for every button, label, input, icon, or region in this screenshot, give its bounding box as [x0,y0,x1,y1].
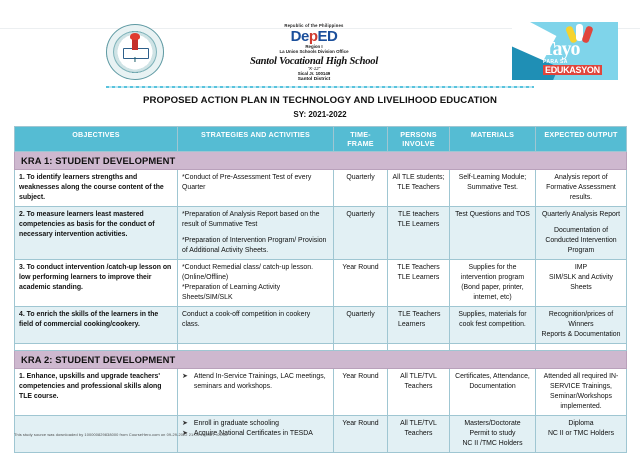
cell-persons: All TLE/TVL Teachers [388,369,450,416]
tayo-wordmark: Tayo [542,38,580,61]
kra-band-row: KRA 1: STUDENT DEVELOPMENT [15,152,627,170]
cell-timeframe: Quarterly [334,170,388,207]
tayo-subtitle-2: EDUKASYON [543,65,602,75]
cell-objective: 1. Enhance, upskills and upgrade teacher… [15,369,178,416]
cell-persons: All TLE students; TLE Teachers [388,170,450,207]
cell-materials: Certificates, Attendance, Documentation [450,369,536,416]
cell-objective: 1. To identify learners strengths and we… [15,170,178,207]
cell-strategy: ➤ Attend In-Service Trainings, LAC meeti… [178,369,334,416]
cell-output: IMP SIM/SLK and Activity Sheets [536,260,627,307]
strategy-line-2: *Preparation of Intervention Program/ Pr… [182,237,326,254]
col-objectives: OBJECTIVES [15,127,178,152]
bullet-text: Enroll in graduate schooling [194,419,329,429]
table-row: 1. Enhance, upskills and upgrade teacher… [15,369,627,416]
col-timeframe: TIME-FRAME [334,127,388,152]
download-watermark: This study source was downloaded by 1000… [14,432,228,437]
strategy-line-1: *Conduct Remedial class/ catch-up lesson… [182,264,313,281]
cell-persons: TLE teachers TLE Learners [388,207,450,260]
col-expected-output: EXPECTED OUTPUT [536,127,627,152]
table-row: 4. To enrich the skills of the learners … [15,307,627,344]
output-line-1: Quarterly Analysis Report [542,211,620,218]
bullet-text: Attend In-Service Trainings, LAC meeting… [194,372,329,392]
cell-persons: All TLE/TVL Teachers [388,416,450,453]
school-seal-icon: I [106,24,164,80]
cell-output: Diploma NC II or TMC Holders [536,416,627,453]
table-row: 3. To conduct intervention /catch-up les… [15,260,627,307]
cell-materials: Test Questions and TOS [450,207,536,260]
cell-timeframe: Quarterly [334,207,388,260]
bullet-arrow-icon: ➤ [182,372,188,382]
address-line-2: Santol District [250,77,378,82]
col-strategies: STRATEGIES AND ACTIVITIES [178,127,334,152]
cell-materials: Self-Learning Module; Summative Test. [450,170,536,207]
col-materials: MATERIALS [450,127,536,152]
cell-timeframe: Year Round [334,260,388,307]
table-row: 1. To identify learners strengths and we… [15,170,627,207]
kra2-label: KRA 2: STUDENT DEVELOPMENT [15,351,627,369]
cell-strategy: *Conduct of Pre-Assessment Test of every… [178,170,334,207]
division-line: La Union Schools Division Office [250,50,378,55]
tayo-para-sa-edukasyon-logo: Tayo PARA SA EDUKASYON [512,22,618,80]
kra-band-row: KRA 2: STUDENT DEVELOPMENT [15,351,627,369]
table-spacer-row [15,344,627,351]
col-persons-involve: PERSONSINVOLVE [388,127,450,152]
letterhead-divider [106,86,534,88]
cell-output: Quarterly Analysis Report Documentation … [536,207,627,260]
cell-materials: Supplies, materials for cook fest compet… [450,307,536,344]
strategy-line-2: *Preparation of Learning Activity Sheets… [182,284,280,301]
deped-wordmark: DepED [250,29,378,45]
school-year: SY: 2021-2022 [14,110,626,119]
letterhead-center-text: Republic of the Philippines DepED Region… [250,24,378,82]
kra1-label: KRA 1: STUDENT DEVELOPMENT [15,152,627,170]
cell-output: Attended all required IN-SERVICE Trainin… [536,369,627,416]
document-page: I Republic of the Philippines DepED Regi… [0,22,640,441]
output-line-2: Documentation of Conducted Intervention … [545,227,616,254]
cell-timeframe: Quarterly [334,307,388,344]
cell-output: Recognition/prices of Winners Reports & … [536,307,627,344]
page-title: PROPOSED ACTION PLAN IN TECHNOLOGY AND L… [14,95,626,106]
action-plan-table: OBJECTIVES STRATEGIES AND ACTIVITIES TIM… [14,126,627,453]
cell-strategy: *Conduct Remedial class/ catch-up lesson… [178,260,334,307]
cell-strategy: *Preparation of Analysis Report based on… [178,207,334,260]
letterhead: I Republic of the Philippines DepED Regi… [14,22,626,84]
cell-persons: TLE Teachers TLE Learners [388,260,450,307]
table-header-row: OBJECTIVES STRATEGIES AND ACTIVITIES TIM… [15,127,627,152]
bullet-arrow-icon: ➤ [182,419,188,429]
cell-timeframe: Year Round [334,369,388,416]
seal-number: I [106,57,164,64]
cell-materials: Masters/Doctorate Permit to study NC II … [450,416,536,453]
cell-persons: TLE Teachers Learners [388,307,450,344]
cell-objective: 4. To enrich the skills of the learners … [15,307,178,344]
cell-objective: 2. To measure learners least mastered co… [15,207,178,260]
cell-output: Analysis report of Formative Assessment … [536,170,627,207]
cell-timeframe: Year Round [334,416,388,453]
table-row: 2. To measure learners least mastered co… [15,207,627,260]
cell-strategy: Conduct a cook-off competition in cooker… [178,307,334,344]
cell-objective: 3. To conduct intervention /catch-up les… [15,260,178,307]
strategy-line-1: *Preparation of Analysis Report based on… [182,211,320,228]
cell-materials: Supplies for the intervention program (B… [450,260,536,307]
